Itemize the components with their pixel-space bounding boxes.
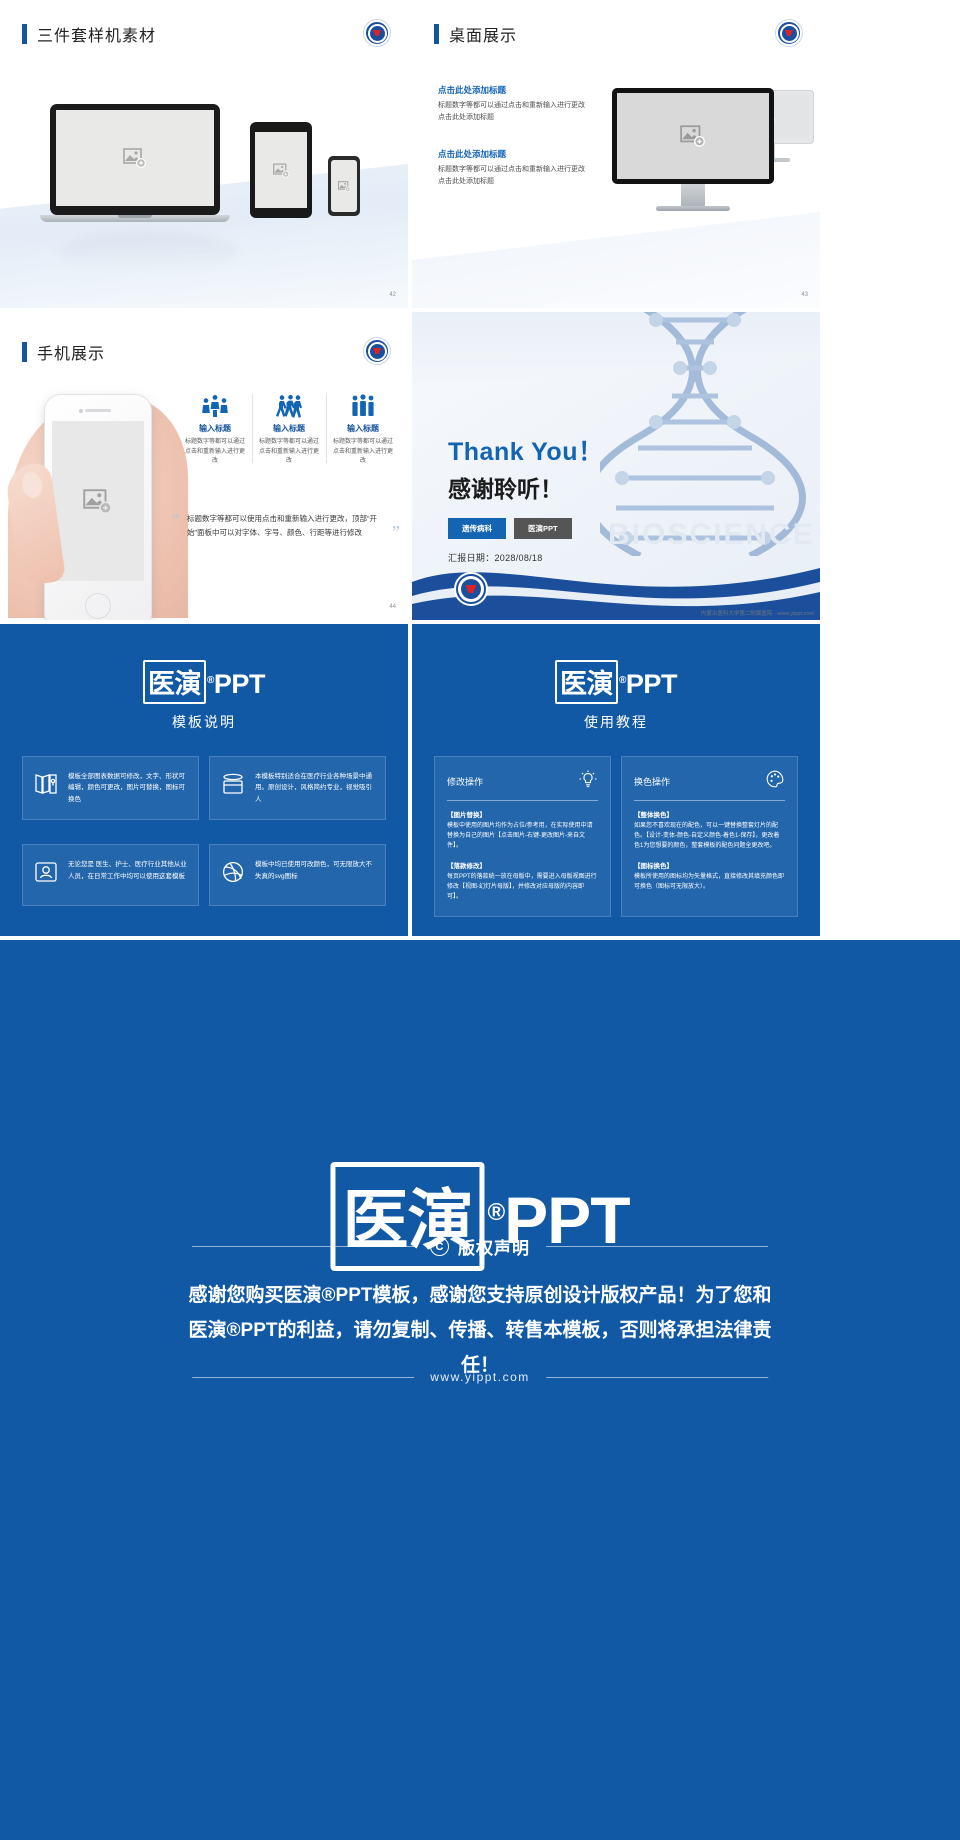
people-group-icon xyxy=(184,390,246,418)
tutorial-section-heading: 【图片替换】 xyxy=(447,809,598,819)
feature-item: 输入标题 标题数字等都可以通过点击和重新输入进行更改 xyxy=(326,390,400,467)
copyright-label: 版权声明 xyxy=(458,1234,530,1259)
slide-page-number: 43 xyxy=(801,292,808,298)
phone-mockup xyxy=(328,156,360,216)
info-card-row-2: 无论您是 医生、护士、医疗行业其他从业人员，在日常工作中均可以使用这套模板 模板… xyxy=(22,844,386,906)
brand-logo: 医演®PPT xyxy=(0,660,408,704)
slide-gutter-vertical xyxy=(408,0,412,936)
slide-usage-tutorial: 医演®PPT 使用教程 修改操作 【图片替换】 xyxy=(412,624,820,936)
brand-logo-suffix: PPT xyxy=(214,669,265,699)
slide-footer-text: 内蒙古医科大学第二附属医院 · www.yippt.com xyxy=(701,609,814,617)
tutorial-section-body: 如果您不喜欢现在的配色，可以一键替换整套灯片的配色。【设计-变体-颜色-自定义颜… xyxy=(634,821,785,852)
header-accent-bar xyxy=(22,342,27,362)
hand-holding-phone-image xyxy=(8,368,188,618)
divider-line xyxy=(546,1377,768,1378)
image-placeholder-icon xyxy=(680,125,706,147)
people-walking-icon xyxy=(258,390,320,418)
tutorial-section-heading: 【落款修改】 xyxy=(447,860,598,870)
text-block-heading: 点击此处添加标题 xyxy=(438,84,586,96)
brand-logo-box: 医演 xyxy=(143,660,206,704)
text-block-1: 点击此处添加标题 标题数字等都可以通过点击和重新输入进行更改 点击此处添加标题 xyxy=(438,84,586,123)
tutorial-section: 【整体换色】 如果您不喜欢现在的配色，可以一键替换整套灯片的配色。【设计-变体-… xyxy=(634,809,785,852)
header-accent-bar xyxy=(434,24,439,44)
feature-body: 标题数字等都可以通过点击和重新输入进行更改 xyxy=(184,438,246,467)
reflection xyxy=(58,232,238,272)
feature-heading: 输入标题 xyxy=(332,423,394,434)
image-placeholder-icon xyxy=(123,148,147,168)
layers-icon xyxy=(220,771,246,805)
tutorial-section-body: 模板所使用的图标均为矢量格式，直接修改其填充颜色即可换色（图标可无限放大）。 xyxy=(634,872,785,892)
info-card-text: 本模板特别适合在医疗行业各种场景中通用。原创设计，风格简约专业，视觉吸引人 xyxy=(255,771,375,805)
brand-registered-mark: ® xyxy=(487,1199,504,1226)
info-card: 无论您是 医生、护士、医疗行业其他从业人员，在日常工作中均可以使用这套模板 xyxy=(22,844,199,906)
header-accent-bar xyxy=(22,24,27,44)
thank-you-chinese: 感谢聆听！ xyxy=(448,470,603,504)
divider-line xyxy=(192,1246,414,1247)
slide-template-info: 医演®PPT 模板说明 模板全部图表数据可修改，文字、形状可编辑，颜色可更改，图… xyxy=(0,624,408,936)
slide-three-device-mockups: 三件套样机素材 xyxy=(0,0,408,308)
divider-line xyxy=(546,1246,768,1247)
slide-deck-overview: 三件套样机素材 xyxy=(0,0,960,1840)
brand-registered-mark: ® xyxy=(207,675,214,686)
image-placeholder-icon xyxy=(273,163,290,178)
text-block-body: 标题数字等都可以通过点击和重新输入进行更改 点击此处添加标题 xyxy=(438,100,586,123)
primary-monitor-mockup xyxy=(612,88,774,211)
tutorial-card-title: 修改操作 xyxy=(447,775,483,788)
info-card: 模板中均已使用可改颜色，可无限放大不失真的svg图标 xyxy=(209,844,386,906)
device-mockup-group xyxy=(40,100,370,230)
quote-open-icon: “ xyxy=(172,512,180,541)
website-divider: www.yippt.com xyxy=(192,1370,768,1384)
feature-body: 标题数字等都可以通过点击和重新输入进行更改 xyxy=(332,438,394,467)
brand-subtitle: 模板说明 xyxy=(0,712,408,732)
image-placeholder-icon xyxy=(338,181,351,192)
dribbble-icon xyxy=(220,859,246,891)
laptop-mockup xyxy=(50,104,220,222)
info-card: 本模板特别适合在医疗行业各种场景中通用。原创设计，风格简约专业，视觉吸引人 xyxy=(209,756,386,820)
hospital-logo-icon xyxy=(776,20,802,46)
slide-thank-you: BIOSCIENCE Thank You！ 感谢聆听！ 遗传病科 医演PPT 汇… xyxy=(412,312,820,620)
slide-phone-showcase: 手机展示 xyxy=(0,312,408,620)
website-url: www.yippt.com xyxy=(430,1370,530,1384)
feature-heading: 输入标题 xyxy=(184,423,246,434)
hospital-logo-icon xyxy=(364,338,390,364)
feature-item: 输入标题 标题数字等都可以通过点击和重新输入进行更改 xyxy=(252,390,326,467)
lightbulb-icon xyxy=(578,769,598,794)
tutorial-section: 【图片替换】 模板中使用的图片均作为占位/参考用，在实际使用中请替换为自己的图片… xyxy=(447,809,598,852)
copyright-line-1: 感谢您购买医演®PPT模板，感谢您支持原创设计版权产品！为了您和 xyxy=(170,1278,790,1313)
tutorial-section-body: 每页PPT的落款统一放在母版中，需要进入母版视图进行修改【视图-幻灯片母版】，并… xyxy=(447,872,598,903)
brand-registered-mark: ® xyxy=(619,675,626,686)
people-team-icon xyxy=(332,390,394,418)
slide-page-number: 42 xyxy=(389,292,396,298)
feature-columns: 输入标题 标题数字等都可以通过点击和重新输入进行更改 输入标题 标题数字等都可以… xyxy=(178,390,400,467)
brand-block: 医演®PPT 使用教程 xyxy=(412,660,820,732)
image-placeholder-icon xyxy=(83,489,113,514)
copyright-body: 感谢您购买医演®PPT模板，感谢您支持原创设计版权产品！为了您和 医演®PPT的… xyxy=(170,1278,790,1383)
info-card: 模板全部图表数据可修改，文字、形状可编辑，颜色可更改，图片可替换，图标可换色 xyxy=(22,756,199,820)
slide-copyright-notice: 医演®PPT C 版权声明 感谢您购买医演®PPT模板，感谢您支持原创设计版权产… xyxy=(0,940,960,1840)
copyright-divider: C 版权声明 xyxy=(192,1234,768,1259)
info-card-text: 无论您是 医生、护士、医疗行业其他从业人员，在日常工作中均可以使用这套模板 xyxy=(68,859,188,891)
tutorial-section-heading: 【图标换色】 xyxy=(634,860,785,870)
quote-block: “ 标题数字等都可以使用点击和重新输入进行更改，顶部“开始”面板中可以对字体、字… xyxy=(172,512,400,541)
text-block-2: 点击此处添加标题 标题数字等都可以通过点击和重新输入进行更改 点击此处添加标题 xyxy=(438,148,586,187)
divider-line xyxy=(192,1377,414,1378)
page-title: 桌面展示 xyxy=(449,22,517,46)
info-card-row-1: 模板全部图表数据可修改，文字、形状可编辑，颜色可更改，图片可替换，图标可换色 本… xyxy=(22,756,386,820)
info-card-text: 模板中均已使用可改颜色，可无限放大不失真的svg图标 xyxy=(255,859,375,891)
page-title: 三件套样机素材 xyxy=(37,22,156,46)
copyright-icon: C xyxy=(430,1237,449,1256)
tutorial-card-title: 换色操作 xyxy=(634,775,670,788)
text-block-heading: 点击此处添加标题 xyxy=(438,148,586,160)
tablet-mockup xyxy=(250,122,312,218)
slide-header: 三件套样机素材 xyxy=(22,22,156,46)
brand-logo-suffix: PPT xyxy=(626,669,677,699)
slide-desktop-showcase: 桌面展示 点击此处添加标题 标题数字等都可以通过点击和重新输入进行更改 点击此处… xyxy=(412,0,820,308)
feature-heading: 输入标题 xyxy=(258,423,320,434)
slide-page-number: 44 xyxy=(389,604,396,610)
brand-subtitle: 使用教程 xyxy=(412,712,820,732)
quote-close-icon: ” xyxy=(392,524,400,540)
tutorial-section-heading: 【整体换色】 xyxy=(634,809,785,819)
thank-you-english: Thank You！ xyxy=(448,432,603,468)
hospital-logo-icon xyxy=(364,20,390,46)
brand-logo-box: 医演 xyxy=(555,660,618,704)
slide-gutter-horizontal xyxy=(0,620,960,624)
slide-gutter-horizontal xyxy=(0,308,960,312)
quote-text: 标题数字等都可以使用点击和重新输入进行更改，顶部“开始”面板中可以对字体、字号、… xyxy=(187,512,385,541)
tutorial-section-body: 模板中使用的图片均作为占位/参考用，在实际使用中请替换为自己的图片【点击图片-右… xyxy=(447,821,598,852)
feature-item: 输入标题 标题数字等都可以通过点击和重新输入进行更改 xyxy=(178,390,252,467)
brand-block: 医演®PPT 模板说明 xyxy=(0,660,408,732)
page-title: 手机展示 xyxy=(37,340,105,364)
tutorial-card: 修改操作 【图片替换】 模板中使用的图片均作为占位/参考用，在实际使用中请替换为… xyxy=(434,756,611,917)
phone-mockup xyxy=(44,394,152,620)
book-pages-icon xyxy=(33,771,59,805)
brand-logo: 医演®PPT xyxy=(412,660,820,704)
slide-header: 桌面展示 xyxy=(434,22,517,46)
tutorial-card-header: 修改操作 xyxy=(447,769,598,801)
palette-icon xyxy=(765,769,785,794)
slide-header: 手机展示 xyxy=(22,340,105,364)
tutorial-card-row: 修改操作 【图片替换】 模板中使用的图片均作为占位/参考用，在实际使用中请替换为… xyxy=(434,756,798,917)
tutorial-section: 【落款修改】 每页PPT的落款统一放在母版中，需要进入母版视图进行修改【视图-幻… xyxy=(447,860,598,903)
tutorial-card-header: 换色操作 xyxy=(634,769,785,801)
info-card-text: 模板全部图表数据可修改，文字、形状可编辑，颜色可更改，图片可替换，图标可换色 xyxy=(68,771,188,805)
tutorial-section: 【图标换色】 模板所使用的图标均为矢量格式，直接修改其填充颜色即可换色（图标可无… xyxy=(634,860,785,892)
text-block-body: 标题数字等都可以通过点击和重新输入进行更改 点击此处添加标题 xyxy=(438,164,586,187)
feature-body: 标题数字等都可以通过点击和重新输入进行更改 xyxy=(258,438,320,467)
hospital-logo-icon xyxy=(454,572,488,606)
tutorial-card: 换色操作 【整体换色】 如果您不喜欢现在的配色，可以一键替换整套灯片的配色。【 xyxy=(621,756,798,917)
user-card-icon xyxy=(33,859,59,891)
